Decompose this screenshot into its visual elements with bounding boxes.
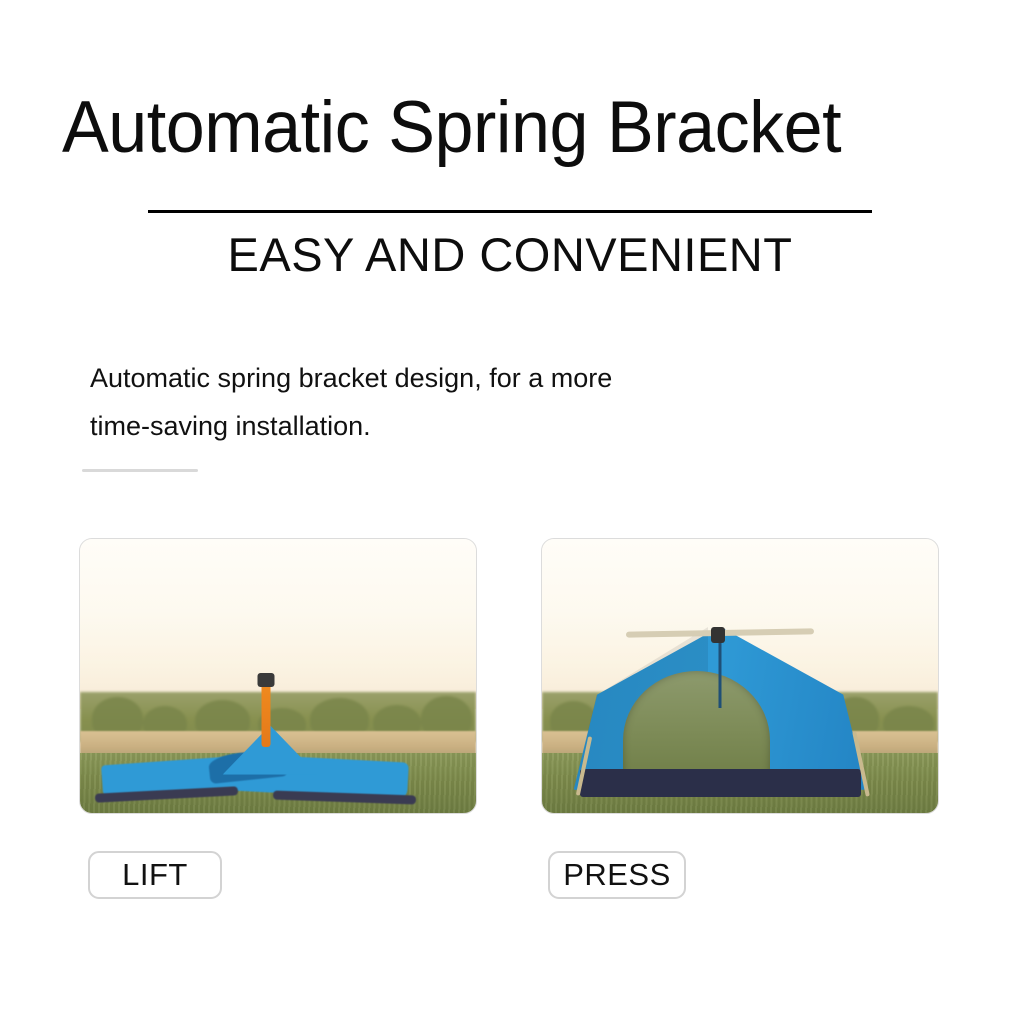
orange-center-pole	[262, 684, 271, 747]
photo-scene-lift	[80, 539, 476, 813]
step-photo-press	[541, 538, 939, 814]
pole-grip	[258, 673, 275, 687]
erected-tent	[574, 627, 867, 797]
tent-base	[580, 769, 861, 796]
description-text: Automatic spring bracket design, for a m…	[90, 354, 870, 450]
step-label-lift: LIFT	[88, 851, 222, 899]
step-photo-lift	[79, 538, 477, 814]
page-subtitle: EASY AND CONVENIENT	[148, 226, 872, 284]
tent-hub	[711, 627, 725, 643]
photo-scene-press	[542, 539, 938, 813]
step-label-press: PRESS	[548, 851, 686, 899]
description-line-2: time-saving installation.	[90, 402, 870, 450]
title-divider	[148, 210, 872, 213]
accent-divider	[82, 469, 198, 472]
description-line-1: Automatic spring bracket design, for a m…	[90, 354, 870, 402]
page-title: Automatic Spring Bracket	[62, 88, 926, 168]
sky	[80, 539, 476, 709]
